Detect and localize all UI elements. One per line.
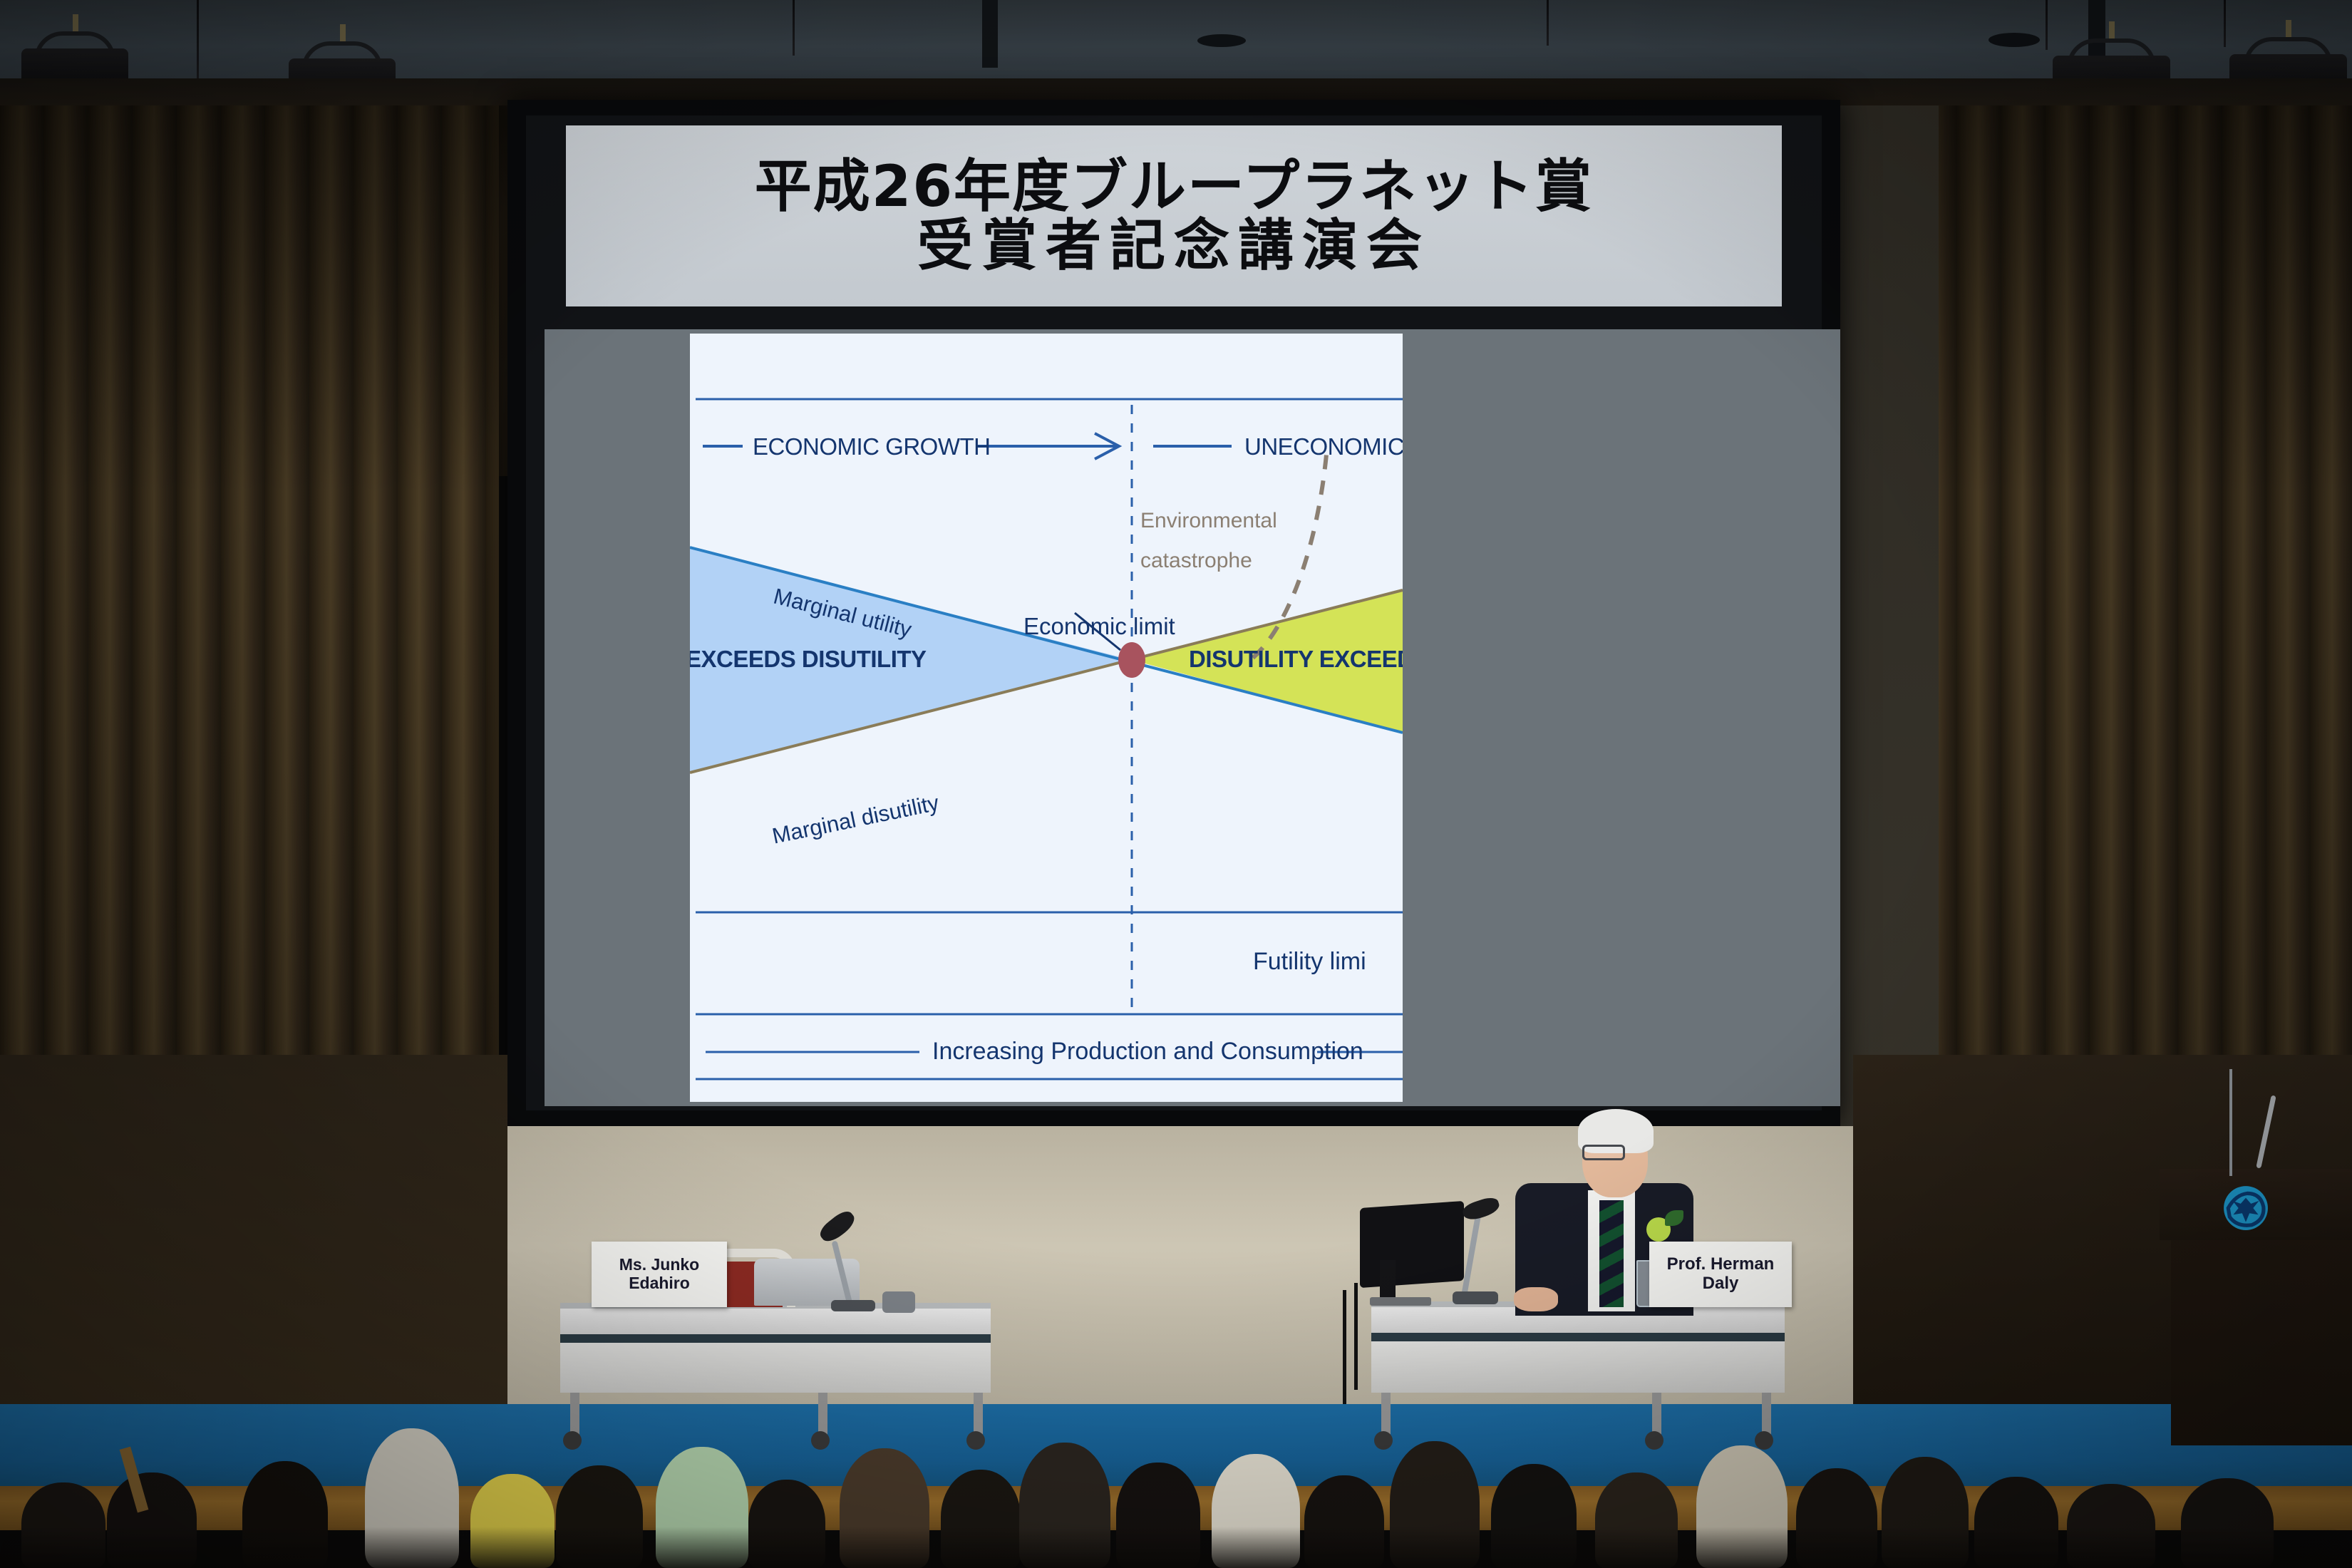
speaker-necktie xyxy=(1599,1200,1624,1307)
speaker-hand xyxy=(1514,1287,1558,1311)
rigging-cable xyxy=(793,0,795,56)
chart-label-environmental-catastrophe-line1: Environmental xyxy=(1140,509,1277,533)
lectern-mic-cable xyxy=(2229,1069,2232,1176)
table-caster xyxy=(1755,1431,1773,1450)
nameplate-left-line2: Edahiro xyxy=(629,1274,690,1293)
microphone-base-left xyxy=(831,1300,875,1311)
table-caster xyxy=(563,1431,582,1450)
rigging-cable xyxy=(2224,0,2226,47)
projection-screen-surface: 平成26年度ブループラネット賞 受賞者記念講演会 xyxy=(526,115,1822,1110)
chart-x-axis-label: Increasing Production and Consumption xyxy=(932,1038,1363,1066)
rigging-cable xyxy=(2046,0,2048,50)
desk-device-left xyxy=(882,1291,915,1313)
nameplate-left: Ms. Junko Edahiro xyxy=(592,1242,727,1307)
table-caster xyxy=(966,1431,985,1450)
event-title-line-2: 受賞者記念講演会 xyxy=(917,218,1430,274)
microphone-base-right xyxy=(1453,1291,1498,1304)
nameplate-left-line1: Ms. Junko xyxy=(619,1256,699,1274)
table-caster xyxy=(1374,1431,1393,1450)
economic-limit-point xyxy=(1118,642,1145,678)
slide-projection-area: ECONOMIC GROWTH UNECONOMIC GROWTH Margin… xyxy=(545,329,1840,1106)
stage-left-wall xyxy=(0,1055,507,1425)
table-caster xyxy=(811,1431,830,1450)
ceiling-vent-icon xyxy=(1989,33,2040,47)
nameplate-right-line2: Daly xyxy=(1703,1274,1739,1294)
chart-label-futility-limit: Futility limi xyxy=(1253,948,1366,976)
rigging-cable xyxy=(1547,0,1549,46)
computer-monitor xyxy=(1360,1201,1464,1288)
projection-screen-frame: 平成26年度ブループラネット賞 受賞者記念講演会 xyxy=(507,100,1840,1126)
chart-region-label-disutility-exceeds-utility: DISUTILITY EXCEEDS U xyxy=(1189,646,1403,673)
daly-marginal-utility-chart: ECONOMIC GROWTH UNECONOMIC GROWTH Margin… xyxy=(690,334,1403,1102)
monitor-stand-foot xyxy=(1370,1297,1431,1306)
panel-table-right-front xyxy=(1371,1341,1785,1393)
speaker-glasses-icon xyxy=(1582,1145,1625,1160)
chart-region-label-utility-exceeds-disutility: EXCEEDS DISUTILITY xyxy=(690,646,927,673)
ceiling-vent-icon xyxy=(1197,34,1246,47)
nameplate-right-line1: Prof. Herman xyxy=(1667,1255,1775,1274)
chart-label-economic-limit: Economic limit xyxy=(1023,613,1175,640)
nameplate-right: Prof. Herman Daly xyxy=(1649,1242,1792,1307)
rigging-cable xyxy=(197,0,199,86)
table-caster xyxy=(1645,1431,1664,1450)
panel-table-left-front xyxy=(560,1343,991,1393)
ceiling-slot xyxy=(982,0,998,68)
event-title-line-1: 平成26年度ブループラネット賞 xyxy=(755,158,1594,215)
floor-cable xyxy=(1343,1290,1346,1404)
monitor-cable xyxy=(1354,1283,1358,1390)
conference-hall-photo: 平成26年度ブループラネット賞 受賞者記念講演会 xyxy=(0,0,2352,1568)
panel-table-left xyxy=(560,1303,991,1346)
chart-label-economic-growth: ECONOMIC GROWTH xyxy=(753,433,990,460)
blue-planet-prize-logo-icon xyxy=(2222,1185,2269,1232)
event-title-banner: 平成26年度ブループラネット賞 受賞者記念講演会 xyxy=(566,125,1782,306)
audience-shoulders xyxy=(0,1527,2352,1568)
chart-label-environmental-catastrophe-line2: catastrophe xyxy=(1140,549,1252,573)
chart-label-uneconomic-growth: UNECONOMIC GROWTH xyxy=(1244,433,1403,460)
